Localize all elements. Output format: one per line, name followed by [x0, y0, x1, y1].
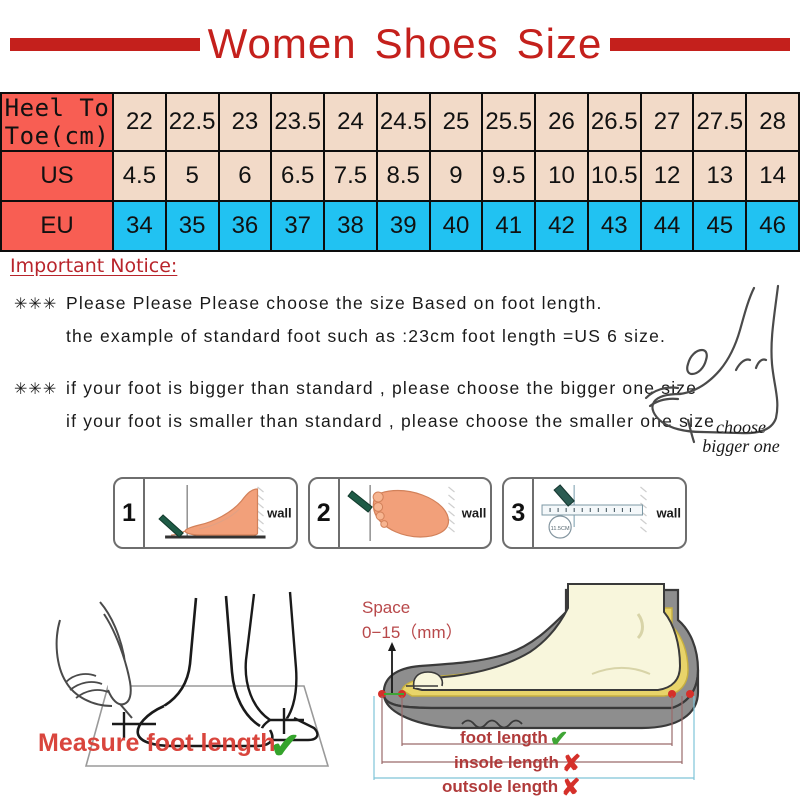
cell-cm: 24.5: [377, 93, 430, 151]
cell-eu: 35: [166, 201, 219, 251]
size-conversion-table: Heel To Toe(cm) 22 22.5 23 23.5 24 24.5 …: [0, 92, 800, 252]
cell-us: 9.5: [482, 151, 535, 201]
page-title: WomenShoesSize: [208, 23, 603, 65]
shoe-cross-section-diagram: Space 0−15（mm） foot length✔ insole lengt…: [342, 578, 800, 798]
cell-cm: 26.5: [588, 93, 641, 151]
step-box-1: 1 wall: [113, 477, 298, 549]
row-label-eu: EU: [1, 201, 113, 251]
label-text: insole length: [454, 753, 559, 772]
cell-us: 6.5: [271, 151, 324, 201]
page-title-bar: WomenShoesSize: [0, 14, 800, 74]
notice-line: the example of standard foot such as :23…: [14, 326, 666, 347]
cell-cm: 23.5: [271, 93, 324, 151]
cell-eu: 37: [271, 201, 324, 251]
step-illustration-ruler: 11.5CM wall: [534, 479, 685, 547]
choose-bigger-one-caption: choose bigger one: [676, 418, 800, 456]
cell-eu: 44: [641, 201, 694, 251]
step-box-2: 2 wall: [308, 477, 493, 549]
notice-line: ✳✳✳Please Please Please choose the size …: [14, 293, 666, 314]
cell-cm: 23: [219, 93, 272, 151]
wall-label: wall: [656, 506, 681, 521]
notice-text: the example of standard foot such as :23…: [66, 326, 666, 346]
cell-eu: 45: [693, 201, 746, 251]
step-number: 2: [310, 479, 340, 547]
title-rule-left: [10, 38, 200, 51]
bullet-stars: ✳✳✳: [14, 379, 66, 399]
space-label-line: 0−15（mm）: [362, 621, 463, 646]
step-box-3: 3 11.5CM: [502, 477, 687, 549]
cell-us: 7.5: [324, 151, 377, 201]
check-mark-icon: ✔: [550, 726, 568, 751]
caption-line: choose: [676, 418, 800, 437]
ruler-badge-text: 11.5CM: [551, 526, 570, 532]
step-illustration-foot-bottom: wall: [340, 479, 491, 547]
cell-cm: 27.5: [693, 93, 746, 151]
cell-us: 10.5: [588, 151, 641, 201]
cell-eu: 39: [377, 201, 430, 251]
wall-label: wall: [267, 506, 292, 521]
title-word-women: Women: [208, 20, 357, 67]
cell-cm: 22.5: [166, 93, 219, 151]
notice-paragraph-2: ✳✳✳if your foot is bigger than standard …: [14, 378, 715, 432]
check-mark-icon: ✔: [270, 728, 300, 764]
cell-eu: 43: [588, 201, 641, 251]
cell-eu: 41: [482, 201, 535, 251]
notice-line: ✳✳✳if your foot is bigger than standard …: [14, 378, 715, 399]
measure-foot-length-caption: Measure foot length: [38, 729, 276, 758]
cell-eu: 38: [324, 201, 377, 251]
row-label-us: US: [1, 151, 113, 201]
cell-eu: 34: [113, 201, 166, 251]
cell-cm: 25: [430, 93, 483, 151]
space-label-line: Space: [362, 596, 463, 621]
table-row: EU 34 35 36 37 38 39 40 41 42 43 44 45 4…: [1, 201, 799, 251]
important-notice-heading: Important Notice:: [10, 255, 177, 277]
cell-cm: 27: [641, 93, 694, 151]
foot-length-label: foot length✔: [460, 726, 568, 752]
step-number: 1: [115, 479, 145, 547]
step-illustration-foot-side: wall: [145, 479, 296, 547]
cell-us: 14: [746, 151, 799, 201]
space-measurement-label: Space 0−15（mm）: [362, 596, 463, 645]
step-number: 3: [504, 479, 534, 547]
notice-text: Please Please Please choose the size Bas…: [66, 293, 603, 313]
notice-text: if your foot is bigger than standard , p…: [66, 378, 697, 398]
notice-text: if your foot is smaller than standard , …: [66, 411, 715, 431]
cross-mark-icon: ✘: [561, 774, 580, 800]
cell-cm: 24: [324, 93, 377, 151]
label-text: foot length: [460, 728, 548, 747]
outsole-length-label: outsole length✘: [442, 774, 580, 801]
measurement-steps: 1 wall 2: [113, 477, 687, 549]
cell-eu: 36: [219, 201, 272, 251]
title-word-shoes: Shoes: [375, 20, 499, 67]
cell-eu: 40: [430, 201, 483, 251]
table-row: US 4.5 5 6 6.5 7.5 8.5 9 9.5 10 10.5 12 …: [1, 151, 799, 201]
cell-us: 4.5: [113, 151, 166, 201]
insole-length-label: insole length✘: [454, 750, 581, 777]
row-label-heel-to-toe: Heel To Toe(cm): [1, 93, 113, 151]
cell-eu: 42: [535, 201, 588, 251]
label-text: outsole length: [442, 777, 558, 796]
cell-cm: 26: [535, 93, 588, 151]
wall-label: wall: [462, 506, 487, 521]
table-row: Heel To Toe(cm) 22 22.5 23 23.5 24 24.5 …: [1, 93, 799, 151]
cell-us: 5: [166, 151, 219, 201]
notice-line: if your foot is smaller than standard , …: [14, 411, 715, 432]
cell-us: 9: [430, 151, 483, 201]
cell-cm: 28: [746, 93, 799, 151]
cross-mark-icon: ✘: [562, 750, 581, 776]
cell-cm: 25.5: [482, 93, 535, 151]
cell-us: 10: [535, 151, 588, 201]
cell-us: 13: [693, 151, 746, 201]
bullet-stars: ✳✳✳: [14, 294, 66, 314]
cell-us: 6: [219, 151, 272, 201]
cell-eu: 46: [746, 201, 799, 251]
cell-us: 12: [641, 151, 694, 201]
title-rule-right: [610, 38, 790, 51]
caption-line: bigger one: [676, 437, 800, 456]
measure-foot-length-illustration: Measure foot length ✔: [8, 578, 340, 794]
title-word-size: Size: [517, 20, 603, 67]
cell-cm: 22: [113, 93, 166, 151]
cell-us: 8.5: [377, 151, 430, 201]
notice-paragraph-1: ✳✳✳Please Please Please choose the size …: [14, 293, 666, 347]
